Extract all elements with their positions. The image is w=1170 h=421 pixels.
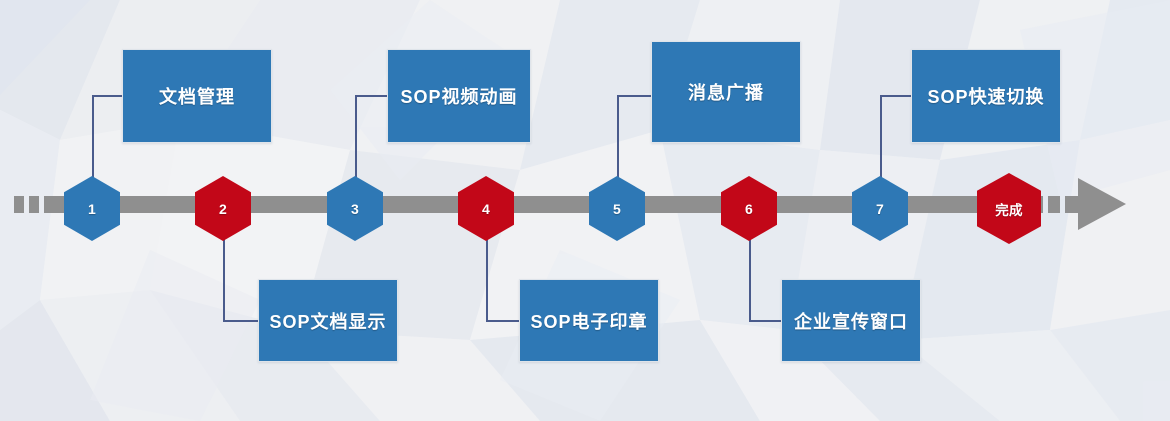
label-box-node-2-text: SOP文档显示: [269, 308, 386, 334]
label-box-node-7-text: SOP快速切换: [927, 83, 1044, 109]
node-1-label: 1: [88, 201, 96, 217]
node-6-label: 6: [745, 201, 753, 217]
label-box-node-4-text: SOP电子印章: [530, 308, 647, 334]
label-box-node-3[interactable]: SOP视频动画: [387, 49, 531, 143]
label-box-node-1[interactable]: 文档管理: [122, 49, 272, 143]
label-box-node-4[interactable]: SOP电子印章: [519, 279, 659, 362]
track-dash-2: [29, 196, 39, 213]
arrow-head-icon: [1078, 178, 1126, 230]
node-8-label: 完成: [995, 199, 1023, 219]
node-2-label: 2: [219, 201, 227, 217]
label-box-node-6-text: 企业宣传窗口: [794, 308, 908, 334]
track-dash-1: [14, 196, 24, 213]
node-5-label: 5: [613, 201, 621, 217]
label-box-node-7[interactable]: SOP快速切换: [911, 49, 1061, 143]
node-7-label: 7: [876, 201, 884, 217]
track-dash-4: [1048, 196, 1060, 213]
label-box-node-5[interactable]: 消息广播: [651, 41, 801, 143]
track-dash-5: [1065, 196, 1079, 213]
label-box-node-2[interactable]: SOP文档显示: [258, 279, 398, 362]
label-box-node-6[interactable]: 企业宣传窗口: [781, 279, 921, 362]
node-4-label: 4: [482, 201, 490, 217]
diagram-canvas: 1 2 3 4 5 6 7 完成 文档管理 SOP视频动画 消息广播 SOP快速…: [0, 0, 1170, 421]
label-box-node-1-text: 文档管理: [159, 83, 235, 109]
label-box-node-5-text: 消息广播: [688, 79, 764, 105]
node-3-label: 3: [351, 201, 359, 217]
label-box-node-3-text: SOP视频动画: [400, 83, 517, 109]
